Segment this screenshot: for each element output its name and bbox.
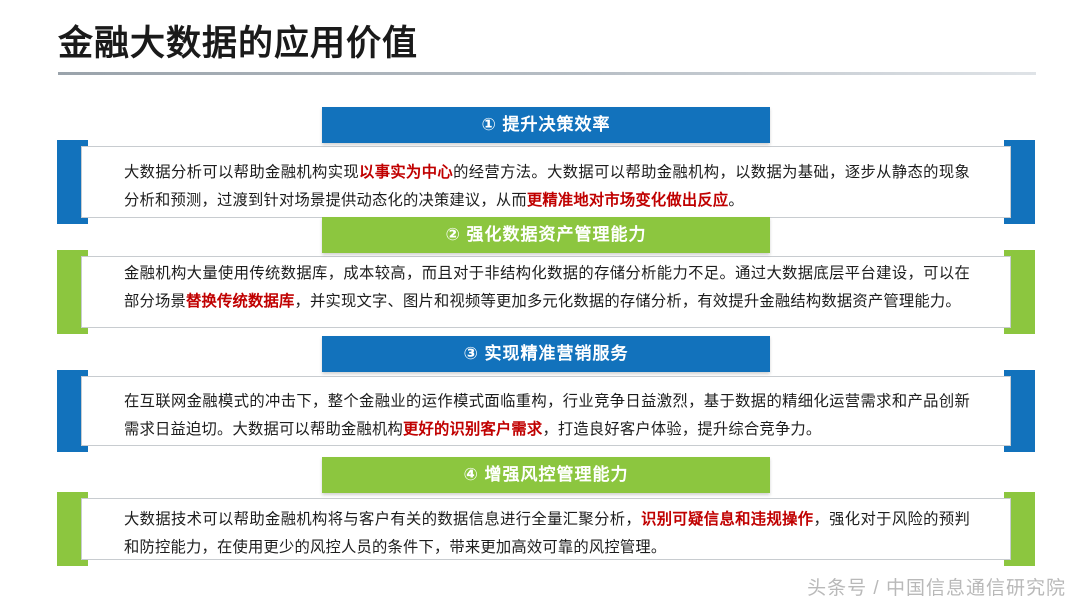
section-3-banner[interactable]: ③ 实现精准营销服务 — [322, 336, 770, 372]
section-4-card: 大数据技术可以帮助金融机构将与客户有关的数据信息进行全量汇聚分析，识别可疑信息和… — [81, 498, 1011, 560]
footer-watermark: 头条号 / 中国信息通信研究院 — [807, 573, 1066, 600]
section-4-highlight-1: 识别可疑信息和违规操作 — [641, 511, 813, 528]
section-1-paragraph: 大数据分析可以帮助金融机构实现以事实为中心的经营方法。大数据可以帮助金融机构，以… — [124, 159, 970, 215]
section-1-text-part-1: 大数据分析可以帮助金融机构实现 — [124, 164, 359, 181]
section-2-text-part-2: ，并实现文字、图片和视频等更加多元化数据的存储分析，有效提升金融结构数据资产管理… — [294, 293, 960, 310]
section-1-card: 大数据分析可以帮助金融机构实现以事实为中心的经营方法。大数据可以帮助金融机构，以… — [81, 146, 1011, 218]
section-3-highlight-1: 更好的识别客户需求 — [403, 421, 542, 438]
section-2-banner[interactable]: ② 强化数据资产管理能力 — [322, 217, 770, 253]
section-1-banner[interactable]: ① 提升决策效率 — [322, 107, 770, 143]
title-block: 金融大数据的应用价值 — [58, 24, 1038, 75]
section-2-highlight-1: 替换传统数据库 — [186, 293, 294, 310]
section-2-card: 金融机构大量使用传统数据库，成本较高，而且对于非结构化数据的存储分析能力不足。通… — [81, 256, 1011, 328]
section-1-highlight-2: 更精准地对市场变化做出反应 — [527, 192, 728, 209]
section-4-text-part-1: 大数据技术可以帮助金融机构将与客户有关的数据信息进行全量汇聚分析， — [124, 511, 641, 528]
section-1: 大数据分析可以帮助金融机构实现以事实为中心的经营方法。大数据可以帮助金融机构，以… — [57, 140, 1035, 224]
section-2-paragraph: 金融机构大量使用传统数据库，成本较高，而且对于非结构化数据的存储分析能力不足。通… — [124, 260, 970, 316]
section-3-text-part-2: ，打造良好客户体验，提升综合竞争力。 — [542, 421, 821, 438]
section-4-paragraph: 大数据技术可以帮助金融机构将与客户有关的数据信息进行全量汇聚分析，识别可疑信息和… — [124, 506, 970, 562]
section-3-paragraph: 在互联网金融模式的冲击下，整个金融业的运作模式面临重构，行业竞争日益激烈，基于数… — [124, 388, 970, 444]
section-1-highlight-1: 以事实为中心 — [359, 164, 453, 181]
slide-canvas: 金融大数据的应用价值 大数据分析可以帮助金融机构实现以事实为中心的经营方法。大数… — [0, 0, 1080, 608]
section-4-banner[interactable]: ④ 增强风控管理能力 — [322, 457, 770, 493]
page-title: 金融大数据的应用价值 — [58, 24, 1038, 64]
title-divider — [58, 72, 1036, 75]
section-3: 在互联网金融模式的冲击下，整个金融业的运作模式面临重构，行业竞争日益激烈，基于数… — [57, 370, 1035, 452]
section-2: 金融机构大量使用传统数据库，成本较高，而且对于非结构化数据的存储分析能力不足。通… — [57, 250, 1035, 334]
section-1-text-part-3: 。 — [728, 192, 744, 209]
section-4: 大数据技术可以帮助金融机构将与客户有关的数据信息进行全量汇聚分析，识别可疑信息和… — [57, 492, 1035, 566]
section-3-card: 在互联网金融模式的冲击下，整个金融业的运作模式面临重构，行业竞争日益激烈，基于数… — [81, 376, 1011, 446]
